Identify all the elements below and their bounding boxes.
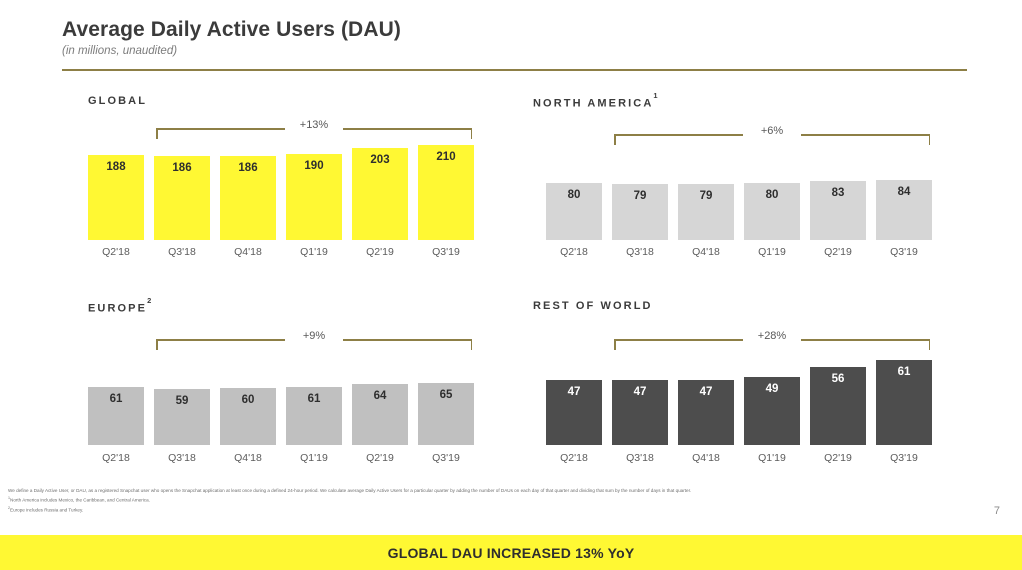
bar-value-label: 59 — [154, 395, 210, 407]
bar-rect: 83 — [810, 181, 866, 240]
page-number: 7 — [994, 505, 1000, 517]
bar-rest-of-world-q1-19: 49 — [744, 377, 800, 445]
bar-rect: 61 — [286, 387, 342, 445]
bar-europe-q2-19: 64 — [352, 384, 408, 445]
category-label-north-america-q2-19: Q2'19 — [802, 246, 874, 258]
growth-bracket-north-america: +6% — [614, 123, 930, 145]
page-subtitle: (in millions, unaudited) — [62, 45, 967, 57]
category-label-europe-q1-19: Q1'19 — [278, 452, 350, 464]
bar-north-america-q2-18: 80 — [546, 183, 602, 240]
growth-bracket-global: +13% — [156, 117, 472, 139]
bar-value-label: 79 — [678, 190, 734, 202]
panel-title-superscript: 2 — [147, 296, 151, 305]
bar-europe-q3-18: 59 — [154, 389, 210, 445]
bar-north-america-q1-19: 80 — [744, 183, 800, 240]
footnote-1-text: North America includes Mexico, the Carib… — [10, 498, 150, 503]
bar-value-label: 61 — [88, 393, 144, 405]
bracket-line-left — [156, 339, 285, 341]
bar-value-label: 61 — [876, 366, 932, 378]
growth-label-global: +13% — [285, 119, 343, 131]
growth-bracket-europe: +9% — [156, 328, 472, 350]
bar-value-label: 186 — [220, 162, 276, 174]
bracket-tick-left — [614, 134, 616, 145]
panel-rest-of-world: REST OF WORLD — [533, 300, 653, 312]
panel-north-america: NORTH AMERICA1 — [533, 95, 658, 110]
bar-rect: 47 — [678, 380, 734, 445]
bar-rect: 190 — [286, 154, 342, 240]
bar-north-america-q4-18: 79 — [678, 184, 734, 240]
header-divider — [62, 69, 967, 71]
category-label-rest-of-world-q2-18: Q2'18 — [538, 452, 610, 464]
bar-rest-of-world-q2-19: 56 — [810, 367, 866, 445]
bracket-line-right — [343, 339, 472, 341]
bar-rest-of-world-q4-18: 47 — [678, 380, 734, 445]
panel-title-superscript: 1 — [653, 91, 657, 100]
bar-rect: 59 — [154, 389, 210, 445]
bar-global-q3-18: 186 — [154, 156, 210, 240]
growth-label-rest-of-world: +28% — [743, 330, 801, 342]
bar-europe-q1-19: 61 — [286, 387, 342, 445]
bar-rect: 56 — [810, 367, 866, 445]
category-label-rest-of-world-q4-18: Q4'18 — [670, 452, 742, 464]
bracket-line-left — [614, 134, 743, 136]
category-label-north-america-q3-19: Q3'19 — [868, 246, 940, 258]
category-label-global-q3-19: Q3'19 — [410, 246, 482, 258]
bar-rect: 186 — [154, 156, 210, 240]
bar-rect: 49 — [744, 377, 800, 445]
panel-title-global: GLOBAL — [88, 95, 147, 107]
page-title: Average Daily Active Users (DAU) — [62, 18, 967, 42]
category-label-rest-of-world-q3-18: Q3'18 — [604, 452, 676, 464]
bar-value-label: 47 — [678, 386, 734, 398]
bar-value-label: 80 — [744, 189, 800, 201]
bracket-tick-right — [471, 128, 473, 139]
bar-north-america-q2-19: 83 — [810, 181, 866, 240]
bar-global-q2-19: 203 — [352, 148, 408, 240]
category-label-north-america-q3-18: Q3'18 — [604, 246, 676, 258]
bar-north-america-q3-19: 84 — [876, 180, 932, 240]
bar-value-label: 84 — [876, 186, 932, 198]
bar-value-label: 83 — [810, 187, 866, 199]
bar-value-label: 49 — [744, 383, 800, 395]
bar-value-label: 188 — [88, 161, 144, 173]
category-label-rest-of-world-q1-19: Q1'19 — [736, 452, 808, 464]
bar-global-q3-19: 210 — [418, 145, 474, 240]
bar-rect: 61 — [88, 387, 144, 445]
bar-europe-q2-18: 61 — [88, 387, 144, 445]
bar-rect: 47 — [546, 380, 602, 445]
bar-rect: 60 — [220, 388, 276, 445]
bracket-line-left — [614, 339, 743, 341]
bracket-line-left — [156, 128, 285, 130]
panel-title-europe: EUROPE2 — [88, 300, 151, 315]
category-label-global-q4-18: Q4'18 — [212, 246, 284, 258]
bar-value-label: 65 — [418, 389, 474, 401]
bracket-tick-left — [156, 128, 158, 139]
panel-global: GLOBAL — [88, 95, 147, 107]
bar-value-label: 203 — [352, 154, 408, 166]
bar-global-q2-18: 188 — [88, 155, 144, 240]
bar-value-label: 186 — [154, 162, 210, 174]
bar-rect: 186 — [220, 156, 276, 240]
bar-rect: 79 — [678, 184, 734, 240]
growth-label-europe: +9% — [285, 330, 343, 342]
category-label-north-america-q4-18: Q4'18 — [670, 246, 742, 258]
slide-header: Average Daily Active Users (DAU) (in mil… — [62, 18, 967, 57]
category-label-rest-of-world-q3-19: Q3'19 — [868, 452, 940, 464]
bar-value-label: 80 — [546, 189, 602, 201]
category-label-north-america-q2-18: Q2'18 — [538, 246, 610, 258]
bar-value-label: 79 — [612, 190, 668, 202]
banner-text: GLOBAL DAU INCREASED 13% YoY — [388, 545, 635, 561]
bar-rect: 65 — [418, 383, 474, 445]
bar-rect: 80 — [546, 183, 602, 240]
bar-rest-of-world-q3-19: 61 — [876, 360, 932, 445]
category-label-global-q1-19: Q1'19 — [278, 246, 350, 258]
bracket-tick-right — [471, 339, 473, 350]
category-label-global-q3-18: Q3'18 — [146, 246, 218, 258]
bottom-banner: GLOBAL DAU INCREASED 13% YoY — [0, 535, 1022, 570]
bracket-tick-right — [929, 339, 931, 350]
bar-rest-of-world-q2-18: 47 — [546, 380, 602, 445]
category-label-rest-of-world-q2-19: Q2'19 — [802, 452, 874, 464]
bar-value-label: 210 — [418, 151, 474, 163]
bar-value-label: 60 — [220, 394, 276, 406]
panel-europe: EUROPE2 — [88, 300, 151, 315]
bar-value-label: 56 — [810, 373, 866, 385]
panel-title-north-america: NORTH AMERICA1 — [533, 95, 658, 110]
footnote-2-text: Europe includes Russia and Turkey. — [10, 507, 83, 512]
bar-rect: 203 — [352, 148, 408, 240]
bar-global-q4-18: 186 — [220, 156, 276, 240]
footnote-2: 2Europe includes Russia and Turkey. — [8, 505, 948, 515]
growth-bracket-rest-of-world: +28% — [614, 328, 930, 350]
bar-europe-q3-19: 65 — [418, 383, 474, 445]
bar-value-label: 61 — [286, 393, 342, 405]
growth-label-north-america: +6% — [743, 125, 801, 137]
category-label-europe-q4-18: Q4'18 — [212, 452, 284, 464]
bracket-line-right — [801, 134, 930, 136]
bar-value-label: 64 — [352, 390, 408, 402]
bar-rest-of-world-q3-18: 47 — [612, 380, 668, 445]
bar-europe-q4-18: 60 — [220, 388, 276, 445]
bar-value-label: 47 — [546, 386, 602, 398]
bar-rect: 84 — [876, 180, 932, 240]
footnote-main: We define a Daily Active User, or DAU, a… — [8, 487, 948, 495]
bar-rect: 79 — [612, 184, 668, 240]
bar-value-label: 190 — [286, 160, 342, 172]
bar-rect: 61 — [876, 360, 932, 445]
bar-global-q1-19: 190 — [286, 154, 342, 240]
category-label-global-q2-19: Q2'19 — [344, 246, 416, 258]
bar-north-america-q3-18: 79 — [612, 184, 668, 240]
bar-rect: 47 — [612, 380, 668, 445]
category-label-europe-q2-18: Q2'18 — [80, 452, 152, 464]
footnotes: We define a Daily Active User, or DAU, a… — [8, 487, 948, 514]
bar-value-label: 47 — [612, 386, 668, 398]
bar-rect: 64 — [352, 384, 408, 445]
bracket-line-right — [343, 128, 472, 130]
panel-title-rest-of-world: REST OF WORLD — [533, 300, 653, 312]
category-label-global-q2-18: Q2'18 — [80, 246, 152, 258]
category-label-north-america-q1-19: Q1'19 — [736, 246, 808, 258]
bracket-tick-left — [156, 339, 158, 350]
footnote-1: 1North America includes Mexico, the Cari… — [8, 495, 948, 505]
bar-rect: 188 — [88, 155, 144, 240]
category-label-europe-q3-19: Q3'19 — [410, 452, 482, 464]
bar-rect: 210 — [418, 145, 474, 240]
category-label-europe-q2-19: Q2'19 — [344, 452, 416, 464]
bracket-tick-right — [929, 134, 931, 145]
category-label-europe-q3-18: Q3'18 — [146, 452, 218, 464]
bracket-tick-left — [614, 339, 616, 350]
bracket-line-right — [801, 339, 930, 341]
bar-rect: 80 — [744, 183, 800, 240]
